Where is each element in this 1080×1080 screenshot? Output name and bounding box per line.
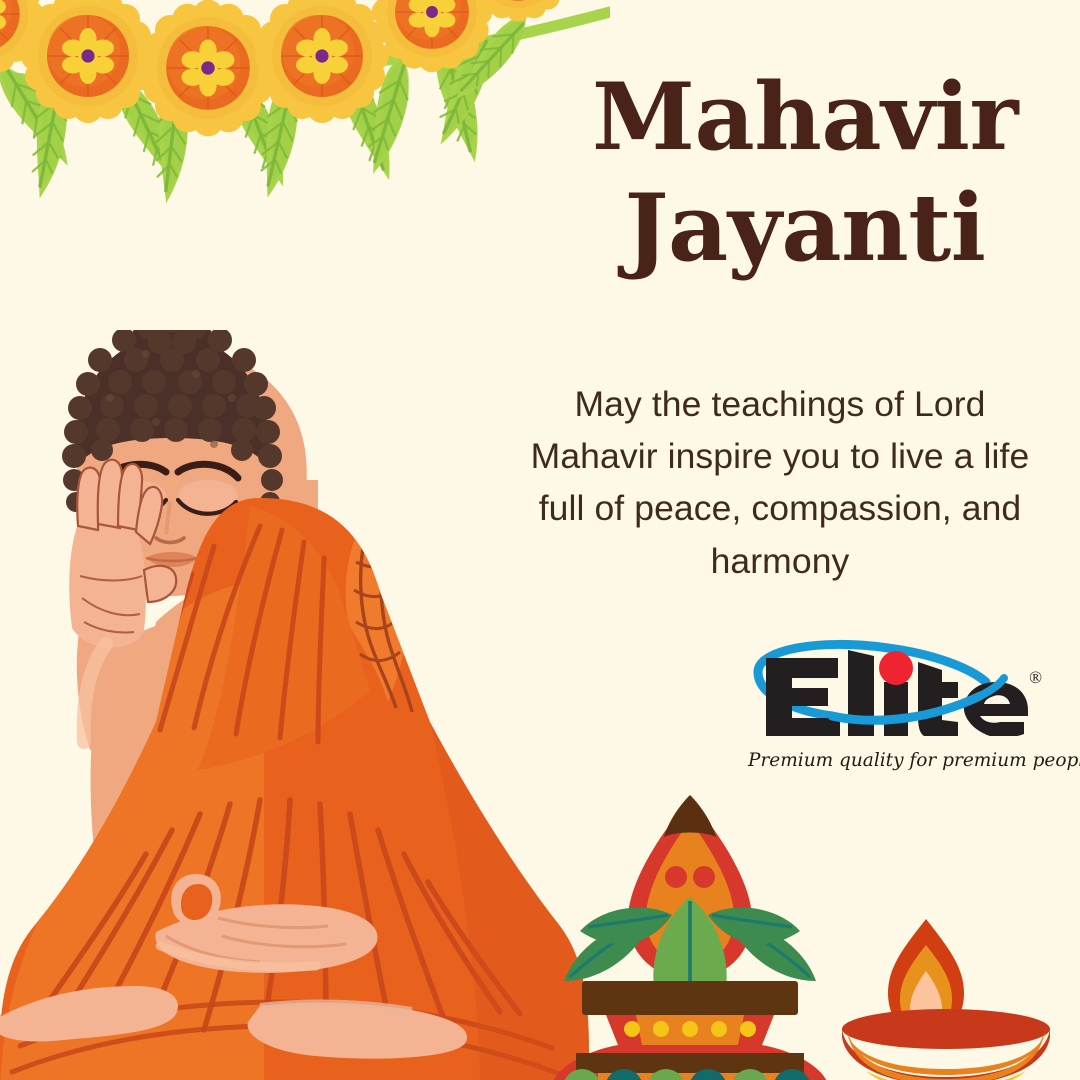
elite-logo: ® Premium quality for premium people	[748, 628, 1048, 788]
title-line-2: Jayanti	[560, 181, 1050, 274]
elite-wordmark	[748, 636, 1038, 736]
mahavir-jayanti-poster: Mahavir Jayanti May the teachings of Lor…	[0, 0, 1080, 1080]
meditating-buddha	[0, 330, 600, 1080]
oil-lamp-diya	[840, 905, 1070, 1080]
decorated-kalash	[540, 795, 840, 1080]
greeting-message: May the teachings of Lord Mahavir inspir…	[520, 378, 1040, 587]
marigold-garland	[0, 0, 610, 208]
logo-tagline: Premium quality for premium people	[748, 750, 1038, 771]
registered-trademark-icon: ®	[1029, 668, 1042, 688]
page-title: Mahavir Jayanti	[560, 70, 1050, 274]
title-line-1: Mahavir	[560, 70, 1050, 163]
